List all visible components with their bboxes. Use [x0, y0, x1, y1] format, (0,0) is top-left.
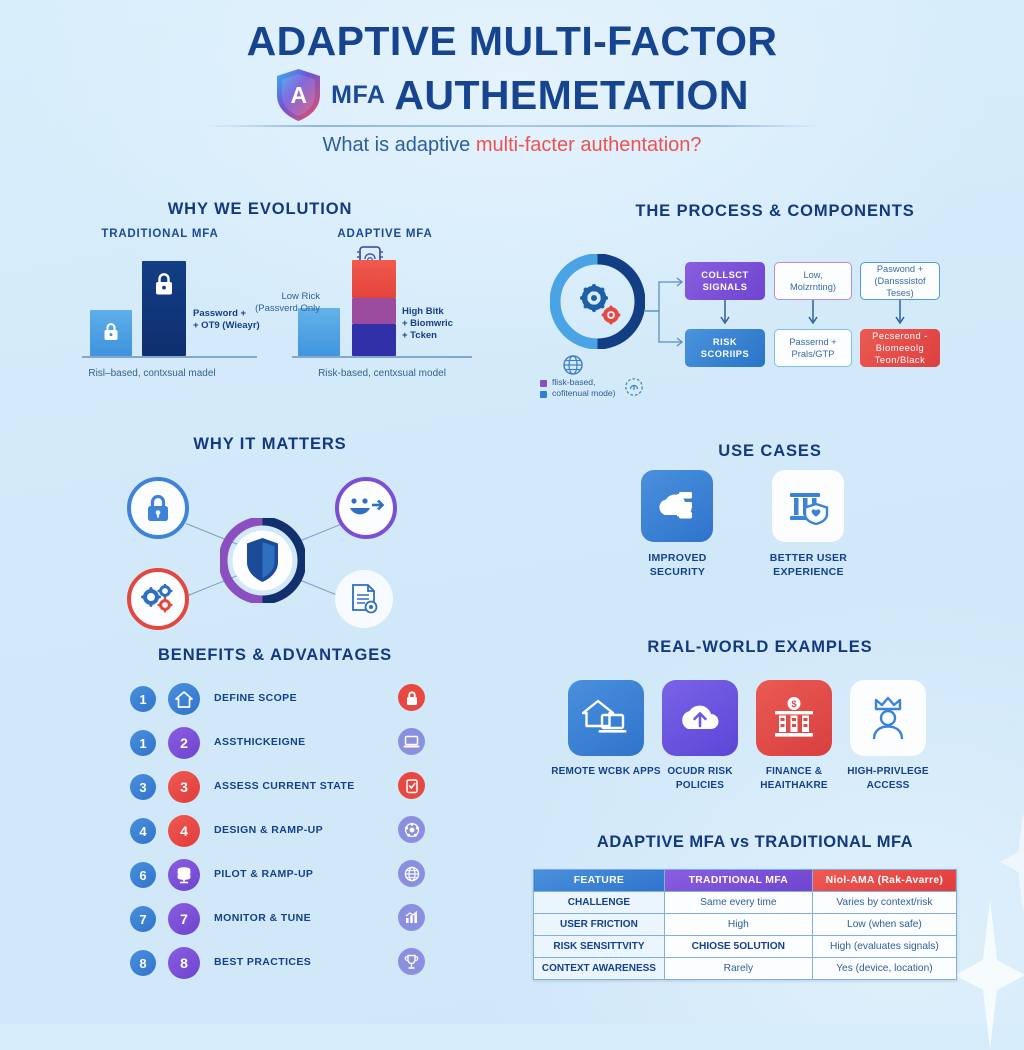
trophy-icon: [404, 954, 419, 970]
header: ADAPTIVE MULTI-FACTOR A: [0, 0, 1024, 175]
node-user-experience[interactable]: [335, 477, 397, 539]
benefit-step-badge-7: 7: [168, 903, 200, 935]
process-box-password-otp[interactable]: Passernd + Prals/GTP: [774, 329, 852, 367]
home-icon: [175, 691, 193, 708]
comparison-table: FEATURE TRADITIONAL MFA Niol-AMA (Rak-Av…: [533, 869, 957, 980]
why-it-matters-section: [100, 430, 440, 630]
table-cell-traditional: High: [664, 914, 812, 936]
process-box-password-transition[interactable]: Paswond + (Dansssistof Teses): [860, 262, 940, 300]
adaptive-caption: Risk-based, centxsual model: [202, 368, 562, 379]
benefit-right-icon-trophy[interactable]: [398, 948, 425, 975]
benefit-step-badge-3: 3: [168, 771, 200, 803]
gears-icon: [141, 584, 175, 614]
svg-text:A: A: [291, 82, 308, 108]
sparkle-decoration-small: [1000, 812, 1024, 912]
benefit-right-icon-chart[interactable]: [398, 904, 425, 931]
usecase-label-improved-security: IMPROVED SECURITY: [620, 552, 735, 579]
table-cell-feature: CONTEXT AWARENESS: [534, 958, 665, 980]
evolution-section: TRADITIONAL MFA Password + + OT9 (Wieayr…: [60, 196, 520, 396]
table-cell-feature: USER FRICTION: [534, 914, 665, 936]
crown-user-icon: [865, 696, 911, 740]
logo-mfa-text: MFA: [331, 81, 385, 110]
subtitle-prefix: What is adaptive: [322, 134, 475, 156]
table-cell-adaptive: Low (when safe): [812, 914, 956, 936]
realworld-tile-finance-healthcare[interactable]: $: [756, 680, 832, 756]
infographic-canvas: ADAPTIVE MULTI-FACTOR A: [0, 0, 1024, 1024]
realworld-tile-high-privilege[interactable]: [850, 680, 926, 756]
benefit-icon-database[interactable]: [168, 859, 200, 891]
process-down-arrows: [685, 300, 940, 328]
use-cases-section: IMPROVED SECURITY BETTER USER EXPERIENCE: [620, 436, 920, 596]
database-icon: [175, 866, 193, 884]
benefit-step-badge-3-left: 3: [130, 774, 156, 800]
usecase-tile-improved-security[interactable]: [641, 470, 713, 542]
benefit-label-7: BEST PRACTICES: [214, 956, 311, 968]
adaptive-mfa-heading: ADAPTIVE MFA: [300, 228, 470, 240]
benefit-step-badge-2: 2: [168, 727, 200, 759]
page-title-line-2: A MFA AUTHEMETATION: [0, 68, 1024, 132]
table-cell-adaptive: Varies by context/risk: [812, 892, 956, 914]
benefit-step-badge-8: 8: [168, 947, 200, 979]
table-cell-feature: CHALLENGE: [534, 892, 665, 914]
traditional-baseline: [82, 356, 257, 358]
process-box-collect-signals[interactable]: COLLSCT SIGNALS: [685, 262, 765, 300]
realworld-label-high-privilege: HIGH-PRIVLEGE ACCESS: [832, 765, 944, 792]
globe-icon: [404, 866, 420, 882]
legend-swatch-1: [540, 380, 547, 387]
bank-money-icon: $: [770, 696, 818, 740]
laptop-icon: [403, 735, 420, 749]
benefit-label-3: ASSESS CURRENT STATE: [214, 780, 355, 792]
adaptive-baseline: [292, 356, 472, 358]
table-row: USER FRICTION High Low (when safe): [534, 914, 957, 936]
benefit-step-badge-5: 6: [130, 862, 156, 888]
central-shield-hub-icon: [220, 518, 305, 603]
header-divider: [205, 125, 820, 127]
real-world-examples-section: REMOTE WCBK APPS OCUDR RISK POLICIES $: [520, 632, 1000, 802]
gears-ring-icon: [550, 254, 645, 349]
subtitle: What is adaptive multi-facter authentati…: [0, 134, 1024, 157]
node-gears[interactable]: [127, 568, 189, 630]
smiley-arrow-icon: [347, 494, 385, 522]
home-laptop-icon: [582, 697, 630, 739]
legend-label-1: flisk-based,: [552, 377, 595, 388]
page-title-authentication-word: AUTHEMETATION: [394, 72, 748, 119]
benefit-icon-home[interactable]: [168, 683, 200, 715]
table-header-adaptive: Niol-AMA (Rak-Avarre): [812, 870, 956, 892]
process-connectors: [643, 266, 688, 356]
table-cell-traditional: CHƖOSE 5OLUTION: [664, 936, 812, 958]
node-lock[interactable]: [127, 477, 189, 539]
process-section: COLLSCT SIGNALS Low, Molzrnting) Paswond…: [540, 196, 1010, 411]
realworld-tile-cloud-risk[interactable]: [662, 680, 738, 756]
usecase-label-better-user-experience: BETTER USER EXPERIENCE: [751, 552, 866, 579]
globe-icon: [562, 354, 584, 376]
benefit-label-4: DESIGN & RAMP-UP: [214, 824, 323, 836]
node-document[interactable]: [335, 570, 393, 628]
clipboard-check-icon: [405, 778, 419, 794]
realworld-tile-remote-work[interactable]: [568, 680, 644, 756]
fingerprint-icon: [624, 377, 644, 397]
table-header-feature: FEATURE: [534, 870, 665, 892]
benefit-label-5: PILOT & RAMP-UP: [214, 868, 313, 880]
benefit-step-badge-7-left: 7: [130, 906, 156, 932]
table-row: CHALLENGE Same every time Varies by cont…: [534, 892, 957, 914]
adaptive-stack-top: [352, 260, 396, 298]
process-box-risk-scoring[interactable]: RISK SCORIIPS: [685, 329, 765, 367]
process-box-low-monitoring[interactable]: Low, Molzrnting): [774, 262, 852, 300]
traditional-bar-small: [90, 310, 132, 356]
table-cell-adaptive: High (evaluates signals): [812, 936, 956, 958]
mfa-shield-logo-icon: A: [275, 68, 322, 122]
table-cell-traditional: Same every time: [664, 892, 812, 914]
benefit-label-1: DEFINE SCOPE: [214, 692, 297, 704]
benefit-right-icon-network[interactable]: [398, 816, 425, 843]
table-header-traditional: TRADITIONAL MFA: [664, 870, 812, 892]
benefit-label-2: ASSTHICKEIGNE: [214, 736, 306, 748]
legend-swatch-2: [540, 391, 547, 398]
table-cell-feature: RISK SENSITTVITY: [534, 936, 665, 958]
table-cell-adaptive: Yes (device, location): [812, 958, 956, 980]
benefit-right-icon-laptop[interactable]: [398, 728, 425, 755]
traditional-bar-large: [142, 261, 186, 356]
lock-icon: [103, 322, 120, 341]
benefit-right-icon-globe[interactable]: [398, 860, 425, 887]
network-icon: [404, 822, 420, 838]
benefit-step-badge-2-left: 1: [130, 730, 156, 756]
benefit-step-badge-4: 4: [168, 815, 200, 847]
lock-icon: [405, 690, 419, 706]
adaptive-note-high-risk: High Bitk + Biomwric + Tcken: [402, 306, 488, 342]
table-row: RISK SENSITTVITY CHƖOSE 5OLUTION High (e…: [534, 936, 957, 958]
chart-icon: [404, 910, 419, 925]
lock-icon: [154, 272, 175, 296]
sparkle-decoration-large: [955, 900, 1024, 1050]
benefit-right-icon-clipboard[interactable]: [398, 772, 425, 799]
usecase-tile-better-user-experience[interactable]: [772, 470, 844, 542]
table-cell-traditional: Rarely: [664, 958, 812, 980]
benefit-step-badge-8-left: 8: [130, 950, 156, 976]
table-header-row: FEATURE TRADITIONAL MFA Niol-AMA (Rak-Av…: [534, 870, 957, 892]
traditional-mfa-heading: TRADITIONAL MFA: [70, 228, 250, 240]
legend-label-2: cofitenual mode): [552, 388, 616, 399]
lock-icon: [144, 493, 172, 524]
adaptive-note-low-risk: Low Rick (Passverd Only: [228, 291, 320, 315]
process-box-biometric-token[interactable]: Pecserond - Biomeeolg Teon/Black: [860, 329, 940, 367]
document-verified-icon: [349, 583, 379, 615]
table-row: CONTEXT AWARENESS Rarely Yes (device, lo…: [534, 958, 957, 980]
benefit-label-6: MONITOR & TUNE: [214, 912, 311, 924]
benefit-step-badge-4-left: 4: [130, 818, 156, 844]
adaptive-stack-base: [352, 324, 396, 356]
bank-shield-icon: [786, 487, 830, 525]
benefits-section: 1 DEFINE SCOPE 1 2 ASSTHICKEIGNE 3 3 ASS…: [110, 640, 440, 1000]
svg-text:$: $: [791, 699, 797, 710]
benefit-step-badge-1: 1: [130, 686, 156, 712]
adaptive-stack-mid: [352, 298, 396, 324]
benefit-right-icon-lock[interactable]: [398, 684, 425, 711]
subtitle-highlight: multi-facter authentation?: [476, 134, 702, 156]
cloud-upload-icon: [676, 699, 724, 737]
cloud-network-icon: [655, 488, 699, 524]
comparison-title: ADAPTIVE MFA vs TRADITIONAL MFA: [530, 833, 980, 852]
page-title-line-1: ADAPTIVE MULTI-FACTOR: [0, 18, 1024, 65]
